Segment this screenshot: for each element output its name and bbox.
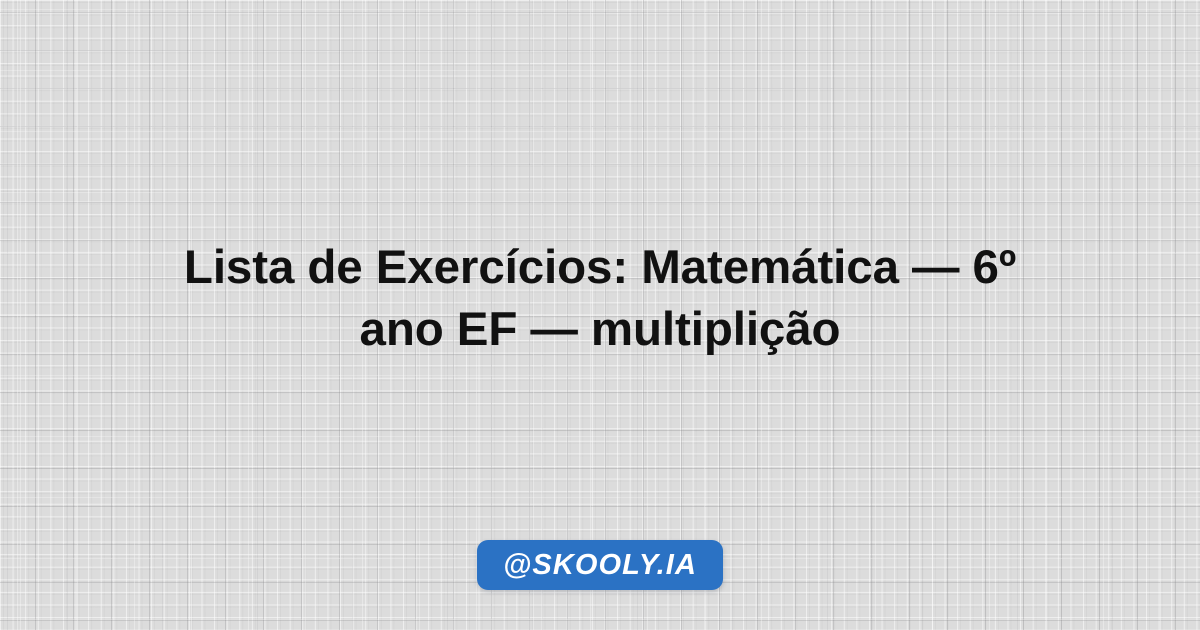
title-block: Lista de Exercícios: Matemática — 6º ano… — [0, 237, 1200, 361]
handle-badge-label: @SKOOLY.IA — [503, 551, 697, 580]
exercise-list-og-card: Lista de Exercícios: Matemática — 6º ano… — [0, 0, 1200, 630]
handle-badge: @SKOOLY.IA — [477, 540, 723, 590]
page-title: Lista de Exercícios: Matemática — 6º ano… — [44, 237, 1156, 361]
